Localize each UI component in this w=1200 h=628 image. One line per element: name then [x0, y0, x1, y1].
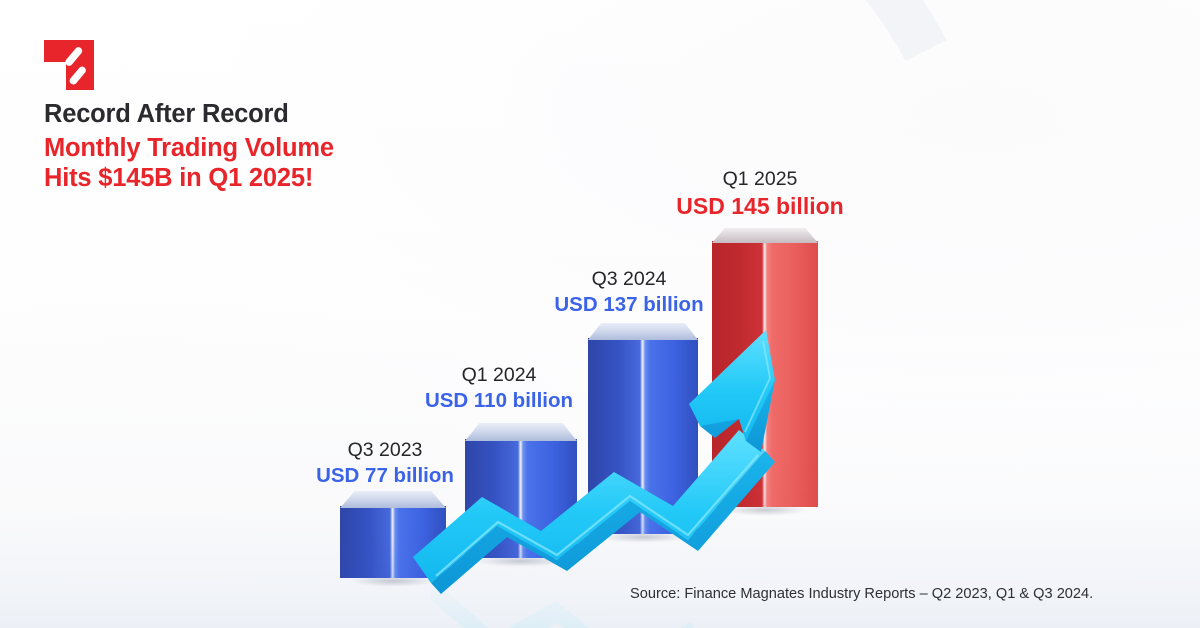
- label-value: USD 77 billion: [275, 463, 495, 490]
- label-period: Q3 2023: [275, 438, 495, 463]
- source-note: Source: Finance Magnates Industry Report…: [630, 586, 1093, 602]
- bar-reflection: [465, 514, 577, 558]
- bar-reflection: [712, 463, 818, 507]
- bar-reflection: [340, 534, 446, 578]
- bar-reflection: [588, 490, 698, 534]
- bar-top-face: [340, 491, 446, 508]
- label-period: Q1 2024: [389, 363, 609, 388]
- label-value: USD 137 billion: [519, 292, 739, 319]
- label-q3-2024: Q3 2024 USD 137 billion: [519, 267, 739, 319]
- label-q1-2024: Q1 2024 USD 110 billion: [389, 363, 609, 415]
- label-period: Q3 2024: [519, 267, 739, 292]
- bar-top-face: [588, 323, 698, 340]
- label-value: USD 110 billion: [389, 388, 609, 415]
- label-q1-2025: Q1 2025 USD 145 billion: [647, 167, 873, 222]
- label-value: USD 145 billion: [647, 192, 873, 222]
- bar-q3-2023: [340, 506, 446, 578]
- bar-chart: Q3 2023 USD 77 billion Q1 2024 USD 110 b…: [0, 0, 1200, 628]
- label-period: Q1 2025: [647, 167, 873, 192]
- infographic-canvas: Record After Record Monthly Trading Volu…: [0, 0, 1200, 628]
- label-q3-2023: Q3 2023 USD 77 billion: [275, 438, 495, 490]
- bar-top-face: [712, 228, 818, 243]
